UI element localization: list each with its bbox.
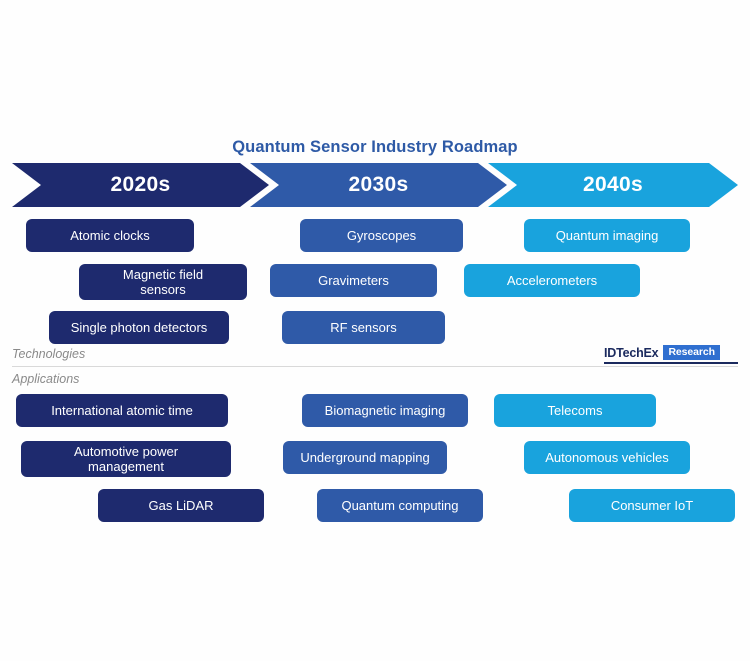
technology-pill-label: Single photon detectors xyxy=(71,320,208,335)
application-pill[interactable]: Biomagnetic imaging xyxy=(302,394,468,427)
timeline-decade-label: 2020s xyxy=(111,173,171,197)
application-pill[interactable]: International atomic time xyxy=(16,394,228,427)
timeline-decade-label: 2030s xyxy=(349,173,409,197)
timeline-decade-2040s[interactable]: 2040s xyxy=(488,163,738,207)
technology-pill-label: Magnetic fieldsensors xyxy=(123,267,203,297)
technology-pill[interactable]: Magnetic fieldsensors xyxy=(79,264,247,300)
section-label-applications: Applications xyxy=(12,372,79,386)
technology-pill-label: RF sensors xyxy=(330,320,396,335)
application-pill-label: Biomagnetic imaging xyxy=(325,403,446,418)
technology-pill-label: Accelerometers xyxy=(507,273,597,288)
application-pill-label: Telecoms xyxy=(548,403,603,418)
timeline-decade-2020s[interactable]: 2020s xyxy=(12,163,269,207)
application-pill[interactable]: Telecoms xyxy=(494,394,656,427)
technology-pill[interactable]: Gyroscopes xyxy=(300,219,463,252)
application-pill-label: Automotive powermanagement xyxy=(74,444,178,474)
section-divider xyxy=(12,366,738,367)
application-pill[interactable]: Automotive powermanagement xyxy=(21,441,231,477)
roadmap-canvas: Quantum Sensor Industry Roadmap 2020s 20… xyxy=(0,0,750,661)
page-title: Quantum Sensor Industry Roadmap xyxy=(0,138,750,157)
technology-pill-label: Gravimeters xyxy=(318,273,389,288)
application-pill[interactable]: Quantum computing xyxy=(317,489,483,522)
logo-underline xyxy=(604,362,738,364)
application-pill-label: International atomic time xyxy=(51,403,193,418)
timeline-decade-2030s[interactable]: 2030s xyxy=(250,163,507,207)
timeline-banner: 2020s 2030s 2040s xyxy=(12,163,738,207)
application-pill[interactable]: Autonomous vehicles xyxy=(524,441,690,474)
application-pill[interactable]: Underground mapping xyxy=(283,441,447,474)
technology-pill-label: Quantum imaging xyxy=(556,228,659,243)
logo-research-badge: Research xyxy=(663,345,719,360)
technology-pill[interactable]: RF sensors xyxy=(282,311,445,344)
technology-pill-label: Gyroscopes xyxy=(347,228,416,243)
technology-pill[interactable]: Quantum imaging xyxy=(524,219,690,252)
idtechex-logo: IDTechEx Research xyxy=(604,345,738,364)
application-pill-label: Gas LiDAR xyxy=(148,498,213,513)
section-label-technologies: Technologies xyxy=(12,347,85,361)
application-pill[interactable]: Consumer IoT xyxy=(569,489,735,522)
application-pill-label: Autonomous vehicles xyxy=(545,450,669,465)
application-pill-label: Quantum computing xyxy=(341,498,458,513)
logo-wordmark: IDTechEx xyxy=(604,346,658,360)
timeline-decade-label: 2040s xyxy=(583,173,643,197)
technology-pill[interactable]: Accelerometers xyxy=(464,264,640,297)
application-pill-label: Consumer IoT xyxy=(611,498,693,513)
technology-pill[interactable]: Atomic clocks xyxy=(26,219,194,252)
application-pill[interactable]: Gas LiDAR xyxy=(98,489,264,522)
application-pill-label: Underground mapping xyxy=(300,450,429,465)
technology-pill[interactable]: Single photon detectors xyxy=(49,311,229,344)
logo-row: IDTechEx Research xyxy=(604,345,738,360)
technology-pill-label: Atomic clocks xyxy=(70,228,149,243)
technology-pill[interactable]: Gravimeters xyxy=(270,264,437,297)
